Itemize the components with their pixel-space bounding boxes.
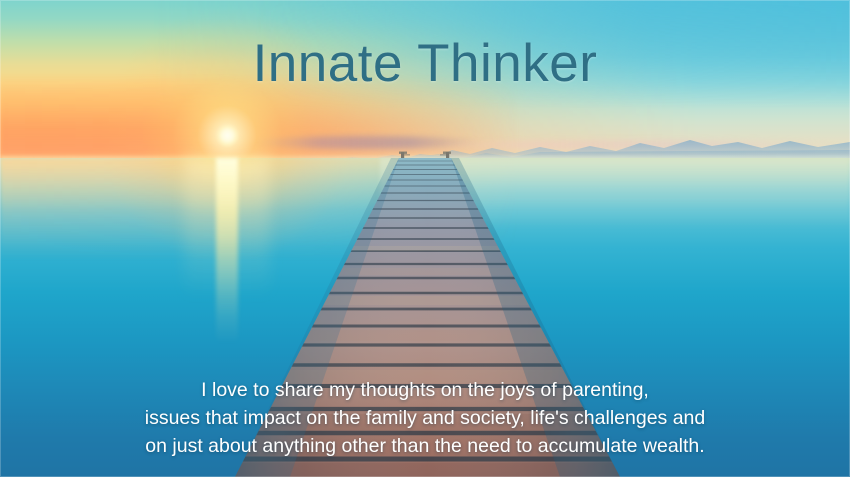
- subtitle-line-1: I love to share my thoughts on the joys …: [0, 376, 850, 404]
- page-title: Innate Thinker: [0, 36, 850, 92]
- banner-subtitle: I love to share my thoughts on the joys …: [0, 376, 850, 460]
- blog-header-banner: Innate Thinker I love to share my though…: [0, 0, 850, 477]
- sun-icon: [217, 125, 238, 146]
- subtitle-line-3: on just about anything other than the ne…: [0, 432, 850, 460]
- subtitle-line-2: issues that impact on the family and soc…: [0, 404, 850, 432]
